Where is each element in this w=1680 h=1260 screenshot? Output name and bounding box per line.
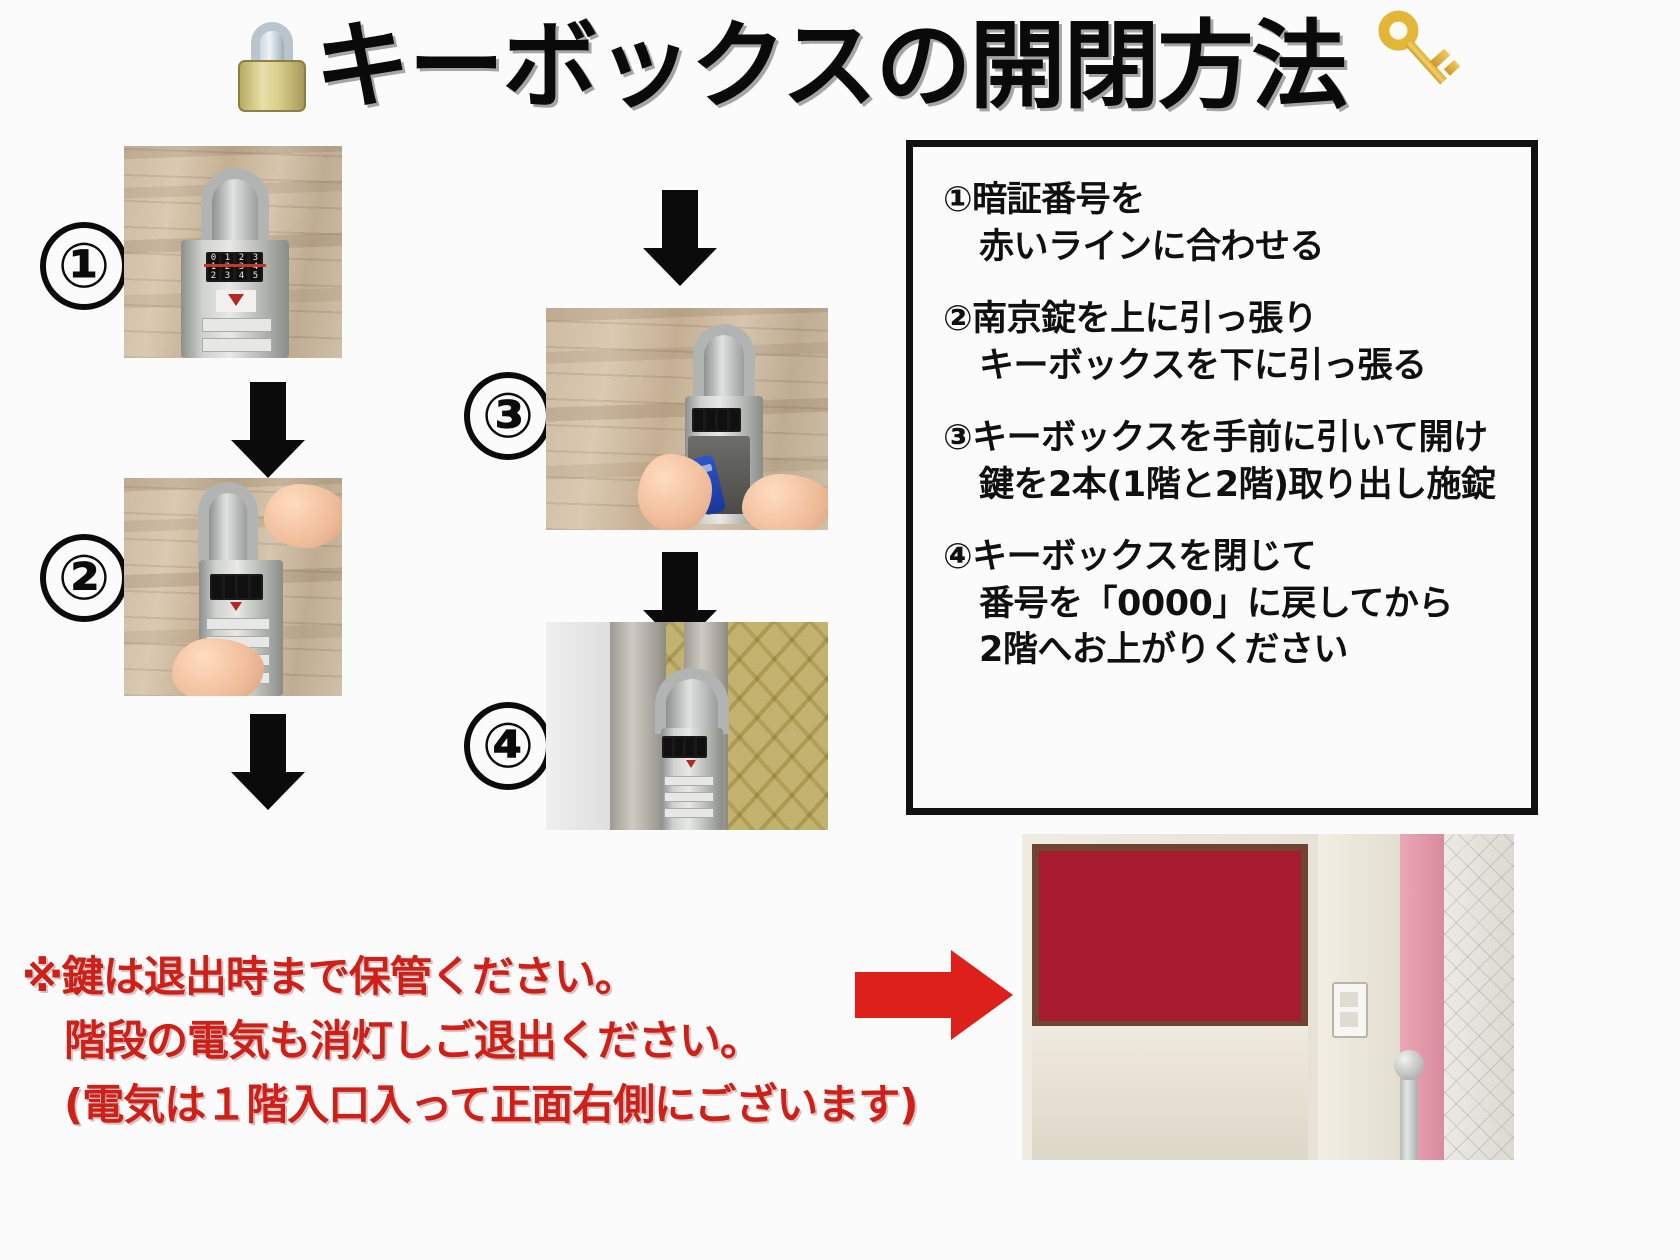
red-panel [1032,844,1308,1028]
instruction-4-line-3: 2階へお上がりください [943,627,1531,674]
instruction-item-2: ②南京錠を上に引っ張り キーボックスを下に引っ張る [943,296,1531,389]
page-title: キーボックスの開閉方法 [0,8,1680,123]
combination-dials: 012 123 234 345 [206,252,263,282]
page-title-text: キーボックスの開閉方法 [314,18,1345,114]
red-down-arrow-marker [686,760,696,768]
keybox-device-locked [644,668,740,830]
door-handle-bar [1400,1080,1418,1160]
hand-right [742,474,828,530]
wire-glass-window [1444,834,1514,1160]
hand-left [638,454,712,530]
combination-dials [692,408,741,432]
keybox-on-door-photo [546,622,828,830]
instruction-3-line-1: ③キーボックスを手前に引いて開け [943,415,1531,462]
step-number-1: ① [40,222,128,310]
instruction-item-1: ①暗証番号を 赤いラインに合わせる [943,177,1531,270]
light-switch-entrance-photo [1022,834,1514,1160]
instruction-3-line-2: 鍵を2本(1階と2階)取り出し施錠 [943,462,1531,509]
keybox-device: 012 123 234 345 [180,168,290,358]
instruction-4-line-2: 番号を「0000」に戻してから [943,581,1531,628]
instruction-4-line-1: ④キーボックスを閉じて [943,534,1531,581]
red-down-arrow-marker [228,294,244,306]
step-number-3: ③ [464,372,552,460]
instruction-item-4: ④キーボックスを閉じて 番号を「0000」に戻してから 2階へお上がりください [943,534,1531,674]
red-down-arrow-marker [230,602,242,611]
door-knob-icon [1394,1050,1424,1080]
flow-arrow-into-3 [630,190,730,288]
step-number-2: ② [40,534,128,622]
instruction-item-3: ③キーボックスを手前に引いて開け 鍵を2本(1階と2階)取り出し施錠 [943,415,1531,508]
combination-dials [210,574,263,600]
light-switch-icon[interactable] [1332,982,1368,1038]
hand-pulling-shackle [264,484,342,548]
red-pointer-arrow [855,950,1013,1040]
instruction-1-line-1: ①暗証番号を [943,177,1531,224]
combination-dials [662,736,707,758]
flow-arrow-1-to-2 [218,382,318,480]
poster-root: キーボックスの開閉方法 ① 012 123 234 345 [0,0,1680,1260]
instruction-2-line-2: キーボックスを下に引っ張る [943,343,1531,390]
step-number-4: ④ [464,702,552,790]
lower-wall [1032,1026,1308,1160]
flow-arrow-2-to-end [218,714,318,812]
instruction-1-line-2: 赤いラインに合わせる [943,224,1531,271]
keybox-on-wall-photo: 012 123 234 345 [124,146,342,358]
note-line-3: (電気は１階入口入って正面右側にございます) [22,1073,1012,1137]
red-alignment-line [204,264,266,267]
lock-icon [234,20,310,112]
instructions-panel: ①暗証番号を 赤いラインに合わせる ②南京錠を上に引っ張り キーボックスを下に引… [906,140,1538,815]
key-icon [1330,0,1466,133]
instruction-2-line-1: ②南京錠を上に引っ張り [943,296,1531,343]
keybox-opened-keys-photo [546,308,828,530]
keybox-pulling-photo [124,478,342,696]
